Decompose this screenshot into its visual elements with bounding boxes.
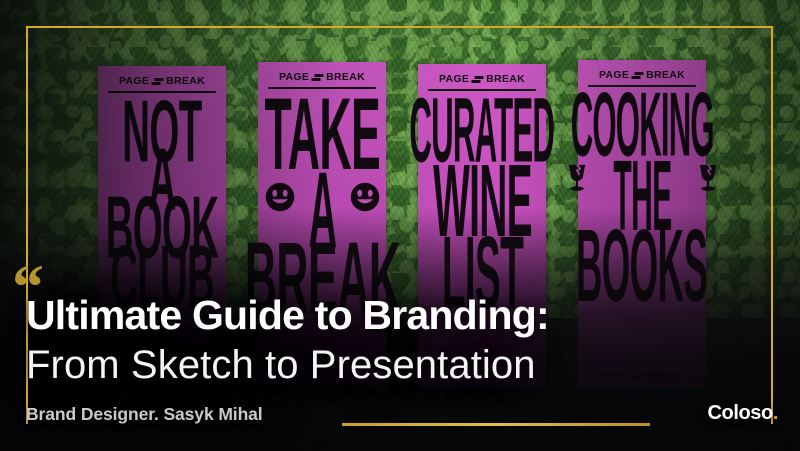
promo-banner-image: PAGE BREAK NOT A BOOK CLUB PAGE BREAK PA… [0,0,800,451]
byline: Brand Designer. Sasyk Mihal [26,404,263,425]
coloso-logo: Coloso. [707,402,778,425]
gold-divider-line [342,423,650,426]
title-line-1: Ultimate Guide to Branding: [26,292,786,339]
brand-dot: . [773,402,778,424]
brand-name: Coloso [707,402,772,424]
title-line-2: From Sketch to Presentation [26,343,800,388]
